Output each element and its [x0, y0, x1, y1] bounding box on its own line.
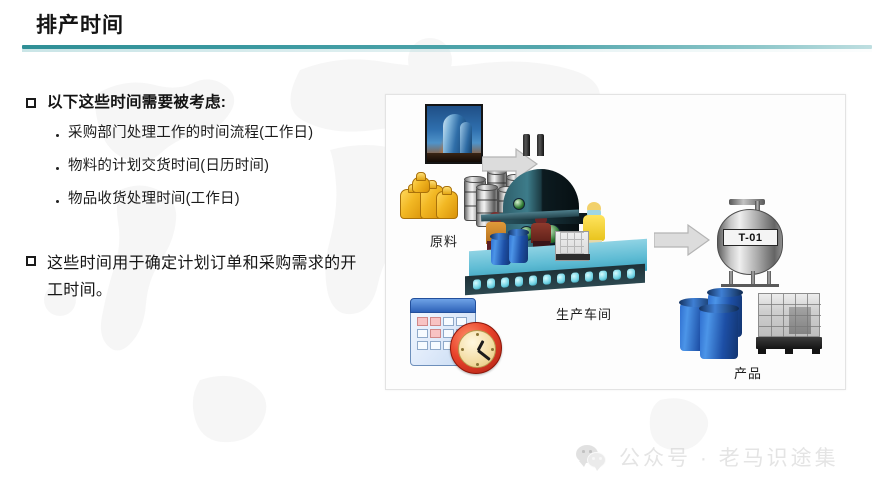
content-block-1: 以下这些时间需要被考虑: 采购部门处理工作的时间流程(工作日) 物料的计划交货时…: [26, 92, 376, 210]
flow-arrow-2-icon: [654, 223, 710, 257]
dot-bullet-icon: [56, 134, 59, 137]
square-outline-bullet-icon: [26, 98, 36, 108]
blue-barrel-icon: [700, 309, 738, 359]
caption-product: 产品: [734, 363, 762, 382]
bullet-row-level1: 以下这些时间需要被考虑:: [26, 92, 376, 114]
calendar-clock-icon: [408, 294, 504, 378]
bullet-row-level1: 这些时间用于确定计划订单和采购需求的开工时间。: [26, 250, 376, 304]
content-block-2: 这些时间用于确定计划订单和采购需求的开工时间。: [26, 250, 376, 304]
blue-barrel-icon: [509, 233, 528, 263]
square-outline-bullet-icon: [26, 256, 36, 266]
header-accent-rule-glow: [22, 49, 872, 52]
slide-canvas: 排产时间 以下这些时间需要被考虑: 采购部门处理工作的时间流程(工作日) 物料的…: [0, 0, 872, 491]
page-title: 排产时间: [36, 11, 124, 41]
list-item: 物料的计划交货时间(日历时间): [56, 156, 376, 177]
list-item-label: 物料的计划交货时间(日历时间): [68, 156, 269, 177]
block-heading: 以下这些时间需要被考虑:: [47, 92, 226, 114]
caption-workshop: 生产车间: [556, 304, 612, 323]
conveyor-belt-icon: [463, 243, 653, 301]
footer-watermark: 公众号 · 老马识途集: [576, 442, 839, 472]
block-heading: 这些时间用于确定计划订单和采购需求的开工时间。: [47, 250, 357, 304]
tank-label: T-01: [723, 229, 778, 246]
dot-bullet-icon: [56, 200, 59, 203]
caption-raw-material: 原料: [430, 231, 458, 250]
ibc-tote-icon: [756, 293, 822, 351]
list-item-label: 采购部门处理工作的时间流程(工作日): [68, 123, 313, 144]
content-column: 以下这些时间需要被考虑: 采购部门处理工作的时间流程(工作日) 物料的计划交货时…: [26, 92, 376, 304]
ibc-tote-icon: [555, 231, 589, 261]
blue-barrel-icon: [491, 237, 511, 265]
dot-bullet-icon: [56, 167, 59, 170]
storage-tank-icon: T-01: [711, 199, 791, 291]
gold-sacks-icon: [398, 173, 460, 223]
clock-icon: [450, 322, 502, 374]
list-item: 物品收货处理时间(工作日): [56, 189, 376, 210]
product-group: [678, 285, 828, 363]
list-item-label: 物品收货处理时间(工作日): [68, 189, 240, 210]
sub-bullet-list: 采购部门处理工作的时间流程(工作日) 物料的计划交货时间(日历时间) 物品收货处…: [26, 123, 376, 210]
list-item: 采购部门处理工作的时间流程(工作日): [56, 123, 376, 144]
wechat-icon: [576, 444, 607, 470]
factory-building-photo-icon: [425, 104, 483, 164]
footer-text: 公众号 · 老马识途集: [619, 442, 839, 472]
process-flow-diagram: 原料: [385, 94, 846, 390]
